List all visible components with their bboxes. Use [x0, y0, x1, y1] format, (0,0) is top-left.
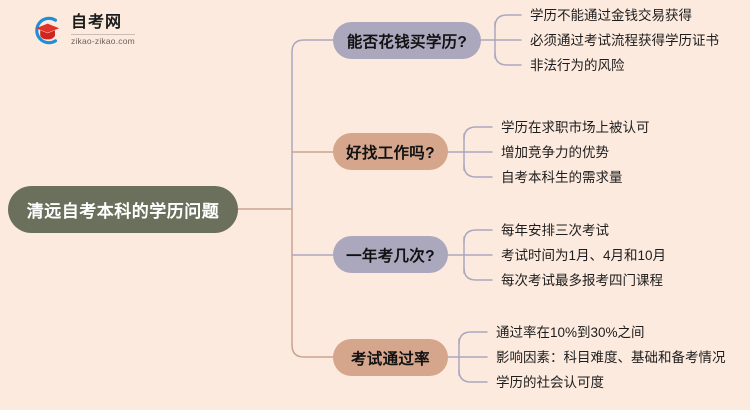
leaf-branch-2-0	[464, 230, 492, 242]
leaf-label-2-2: 每次考试最多报考四门课程	[501, 274, 663, 288]
leaf-label-2-0: 每年安排三次考试	[501, 224, 609, 238]
branch-node-2[interactable]: 一年考几次?	[333, 236, 448, 273]
branch-node-1-label: 好找工作吗?	[346, 141, 435, 163]
branch-connector-0	[292, 40, 333, 52]
leaf-label-0-1: 必须通过考试流程获得学历证书	[530, 34, 719, 48]
leaf-label-1-2: 自考本科生的需求量	[501, 171, 623, 185]
leaf-branch-3-2	[459, 370, 487, 382]
leaf-branch-2-2	[464, 268, 492, 280]
leaf-branch-1-0	[464, 127, 492, 139]
leaf-branch-3-0	[459, 332, 487, 344]
leaf-branch-1-2	[464, 165, 492, 177]
leaf-label-3-2: 学历的社会认可度	[496, 376, 604, 390]
leaf-label-0-0: 学历不能通过金钱交易获得	[530, 9, 692, 23]
branch-node-1[interactable]: 好找工作吗?	[333, 133, 448, 170]
root-node[interactable]: 清远自考本科的学历问题	[8, 186, 238, 233]
branch-node-0-label: 能否花钱买学历?	[347, 30, 467, 52]
leaf-branch-0-2	[495, 53, 521, 65]
leaf-label-3-0: 通过率在10%到30%之间	[496, 326, 645, 340]
branch-node-3[interactable]: 考试通过率	[333, 339, 448, 376]
leaf-label-1-0: 学历在求职市场上被认可	[501, 121, 650, 135]
branch-node-3-label: 考试通过率	[351, 347, 430, 369]
mindmap-canvas: 自考网 zikao-zikao.com	[0, 0, 750, 410]
leaf-branch-0-0	[495, 15, 521, 27]
leaf-label-0-2: 非法行为的风险	[530, 59, 625, 73]
leaf-label-1-1: 增加竞争力的优势	[501, 146, 609, 160]
leaf-label-2-1: 考试时间为1月、4月和10月	[501, 249, 666, 263]
branch-node-2-label: 一年考几次?	[346, 244, 435, 266]
branch-connector-3	[292, 345, 333, 357]
root-node-label: 清远自考本科的学历问题	[27, 197, 220, 222]
leaf-label-3-1: 影响因素：科目难度、基础和备考情况	[496, 351, 726, 365]
branch-node-0[interactable]: 能否花钱买学历?	[333, 22, 481, 59]
